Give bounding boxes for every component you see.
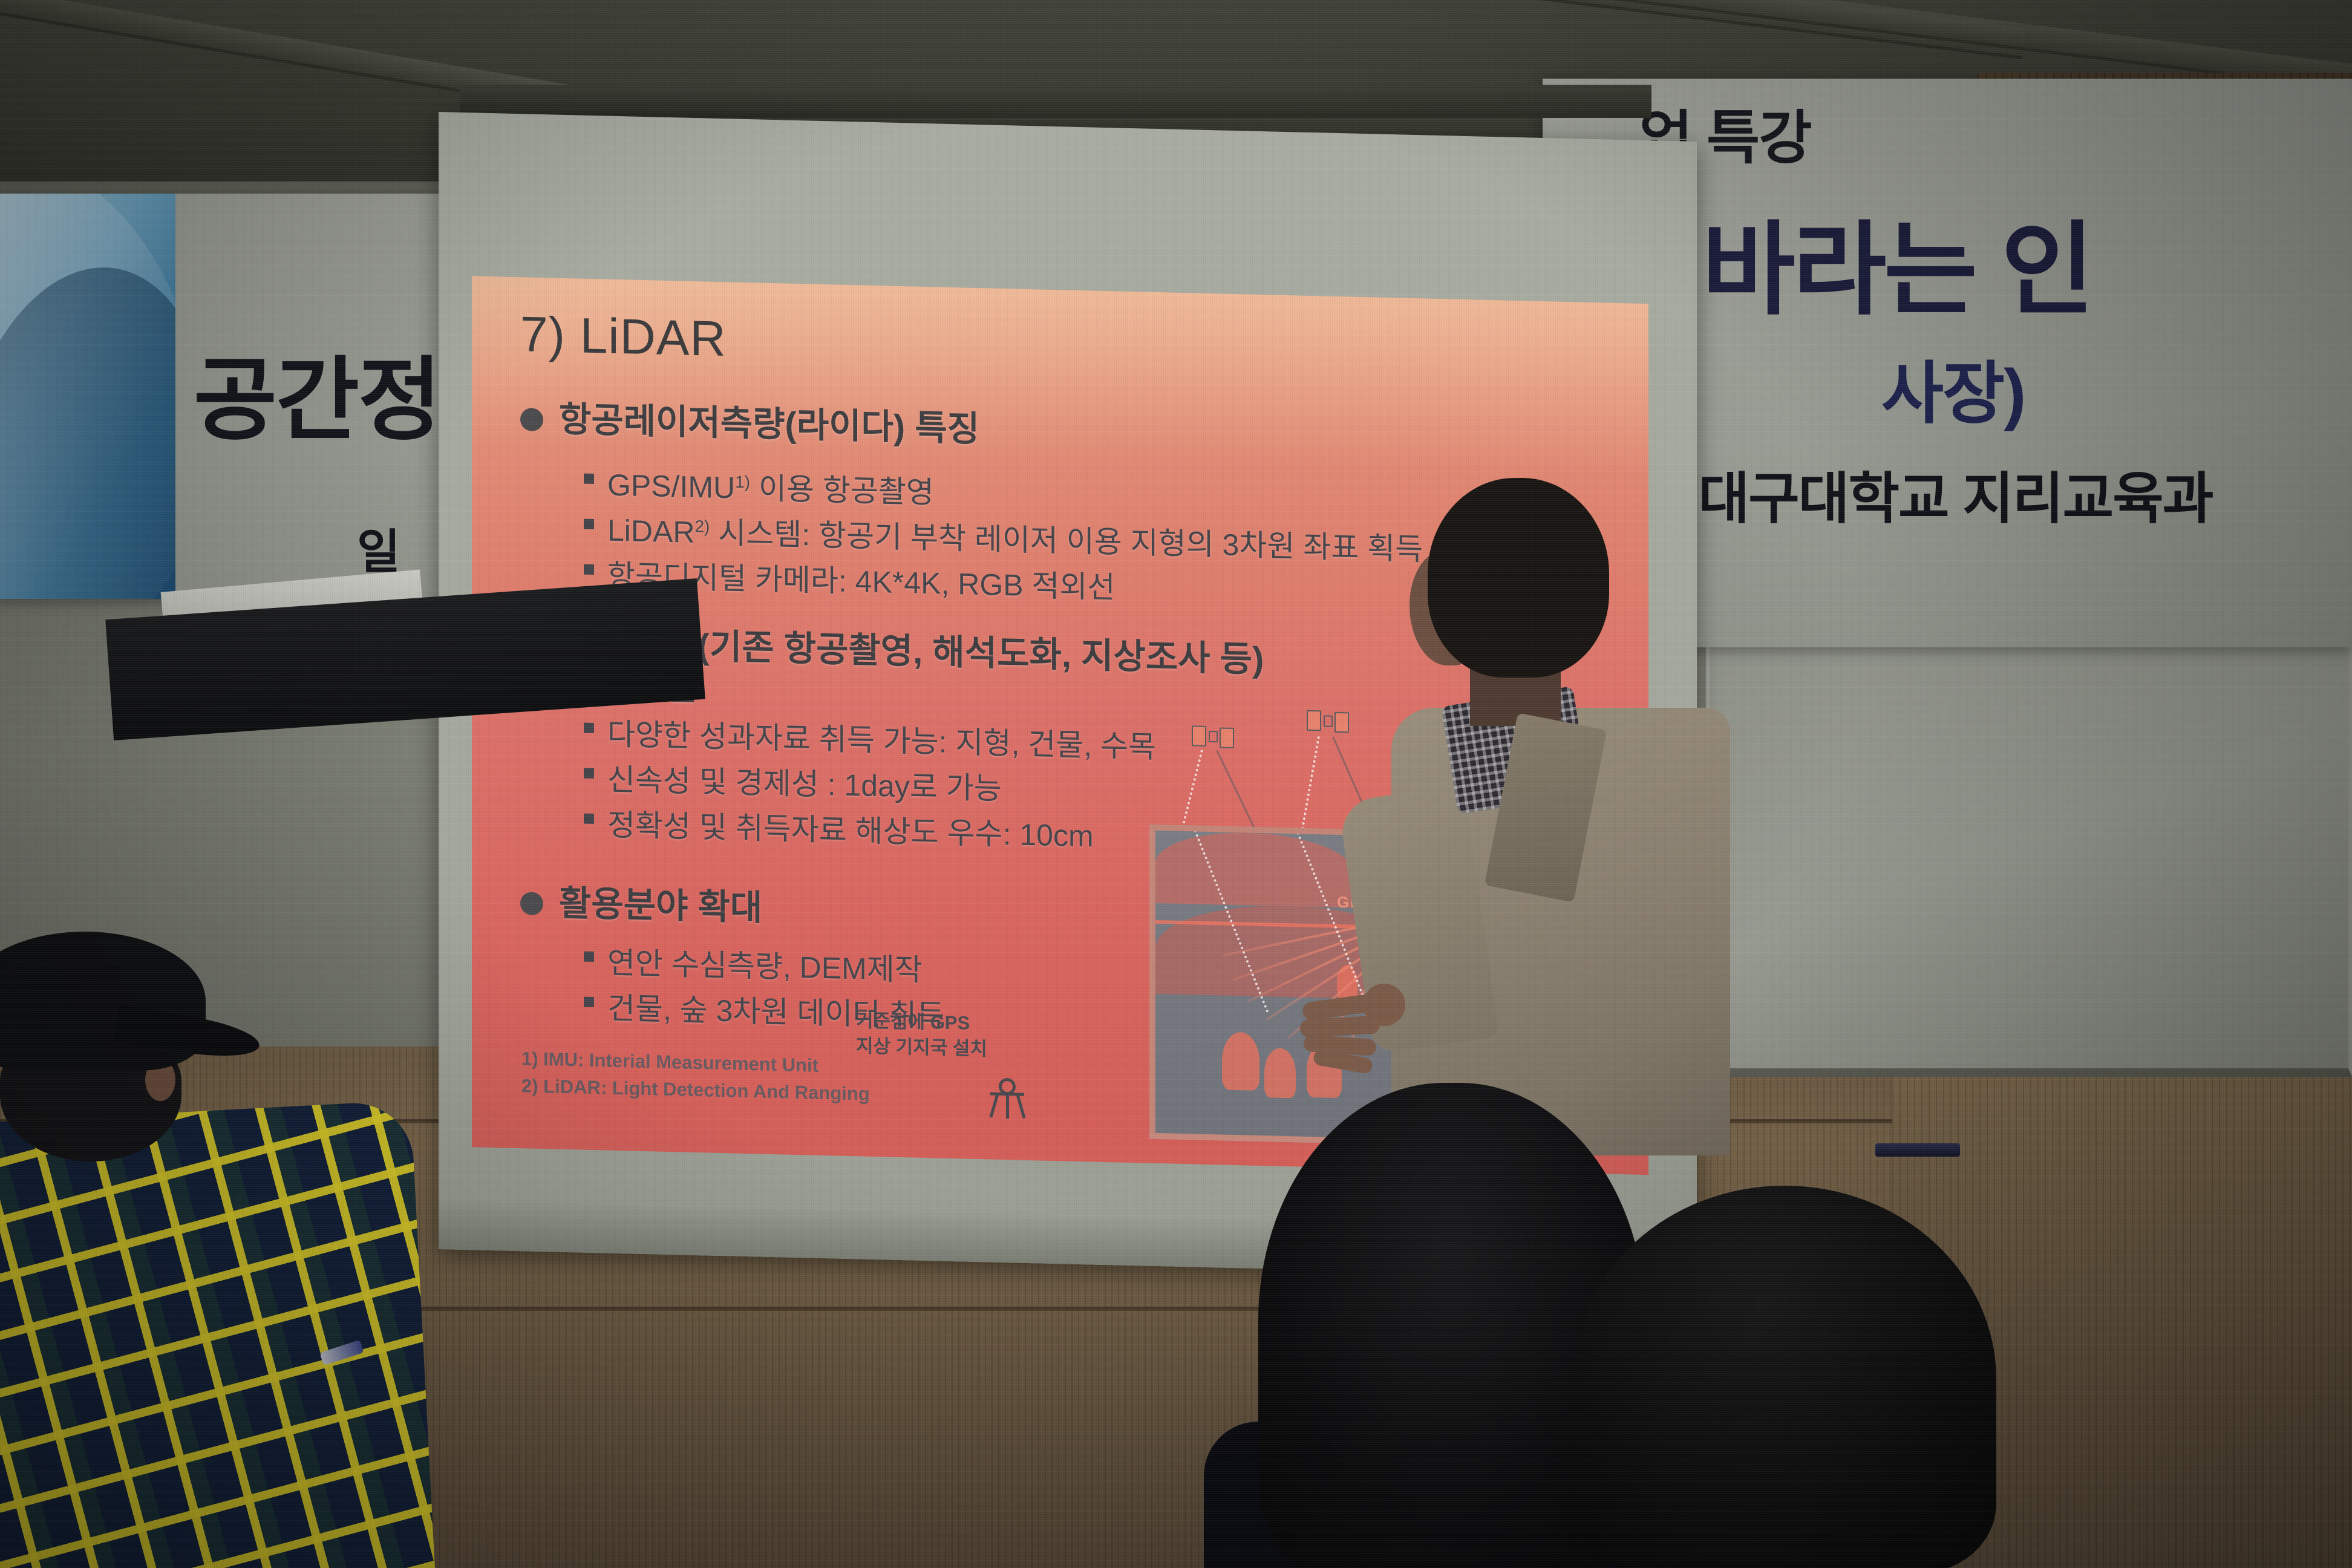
- bullet-square-icon: [584, 474, 594, 484]
- bullet-square-icon: [584, 564, 594, 575]
- tree-icon: [1264, 1048, 1296, 1098]
- bullet-text: 신속성 및 경제성 : 1day로 가능: [607, 756, 1002, 808]
- bullet-text: 정확성 및 취득자료 해상도 우수: 10cm: [607, 801, 1094, 856]
- slide-bullet: 정확성 및 취득자료 해상도 우수: 10cm: [584, 800, 1094, 856]
- ground-station-label-line2: 지상 기지국 설치: [856, 1033, 987, 1062]
- bullet-text: GPS/IMU1) 이용 항공촬영: [607, 461, 934, 512]
- gps-signal-line: [1300, 736, 1320, 835]
- bullet-square-icon: [584, 952, 594, 962]
- bullet-square-icon: [584, 768, 594, 779]
- bullet-dot-icon: [520, 408, 543, 431]
- presenter: [1319, 478, 1779, 1155]
- slide-title: 7) LiDAR: [520, 306, 727, 368]
- lecture-hall-scene: 공간정보 일 업 특강 서 바라는 인 사장) 주최: 대구대학교 지리교육과 …: [0, 0, 2352, 1568]
- audience-member-front-2: [1573, 1186, 1996, 1568]
- ground-station-label-line1: 기준점에 GPS: [856, 1008, 987, 1036]
- whiteboard-marker[interactable]: [1875, 1143, 1960, 1157]
- bullet-text: 연안 수심측량, DEM제작: [607, 939, 923, 990]
- audience-member-left: [0, 932, 423, 1568]
- slide-bullet: 연안 수심측량, DEM제작: [584, 938, 923, 990]
- ground-station-label: 기준점에 GPS 지상 기지국 설치: [856, 1008, 987, 1062]
- slide-footnotes: 1) IMU: Interial Measurement Unit 2) LiD…: [521, 1045, 870, 1108]
- bullet-square-icon: [584, 723, 594, 733]
- bullet-dot-icon: [520, 892, 543, 915]
- tree-icon: [1222, 1032, 1259, 1091]
- banner-graphic: [0, 194, 175, 599]
- bullet-square-icon: [584, 997, 594, 1007]
- presenter-head: [1428, 478, 1609, 678]
- projector-screen-housing: [460, 85, 1651, 118]
- ground-station-tripod-icon: [989, 1077, 1025, 1116]
- bullet-square-icon: [584, 814, 594, 824]
- bullet-square-icon: [584, 519, 594, 529]
- slide-section-heading-3: 활용분야 확대: [520, 882, 762, 929]
- banner-right-paren-line: 사장): [1881, 339, 2025, 437]
- presenter-hand: [1298, 980, 1425, 1071]
- gps-satellite-icon: [1192, 725, 1234, 748]
- slide-bullet: GPS/IMU1) 이용 항공촬영: [584, 460, 934, 512]
- section-heading-text: 활용분야 확대: [559, 883, 762, 929]
- whiteboard[interactable]: [1706, 617, 2352, 1077]
- slide-bullet: 신속성 및 경제성 : 1day로 가능: [584, 755, 1002, 808]
- audience-plaid-shirt: [0, 1100, 436, 1568]
